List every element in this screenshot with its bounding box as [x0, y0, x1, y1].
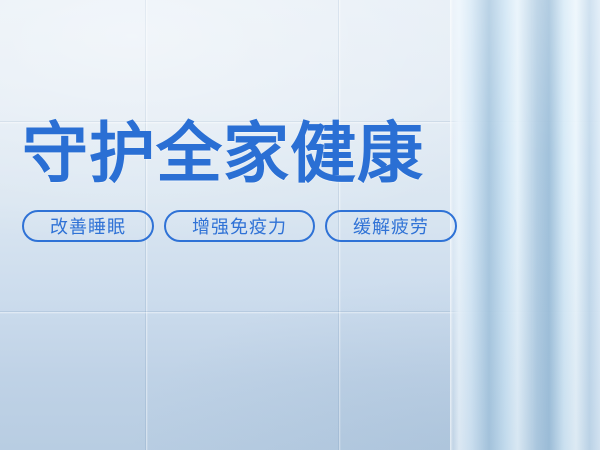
- health-promo-banner: 守护全家健康 改善睡眠 增强免疫力 缓解疲劳: [0, 0, 600, 450]
- benefit-tag-improve-sleep[interactable]: 改善睡眠: [22, 210, 154, 242]
- benefit-tag-relieve-fatigue[interactable]: 缓解疲劳: [325, 210, 457, 242]
- benefit-tag-boost-immunity[interactable]: 增强免疫力: [164, 210, 315, 242]
- page-title: 守护全家健康: [22, 120, 542, 188]
- banner-content: 守护全家健康 改善睡眠 增强免疫力 缓解疲劳: [22, 120, 542, 242]
- grid-line-horizontal: [0, 311, 600, 312]
- benefit-tag-row: 改善睡眠 增强免疫力 缓解疲劳: [22, 210, 542, 242]
